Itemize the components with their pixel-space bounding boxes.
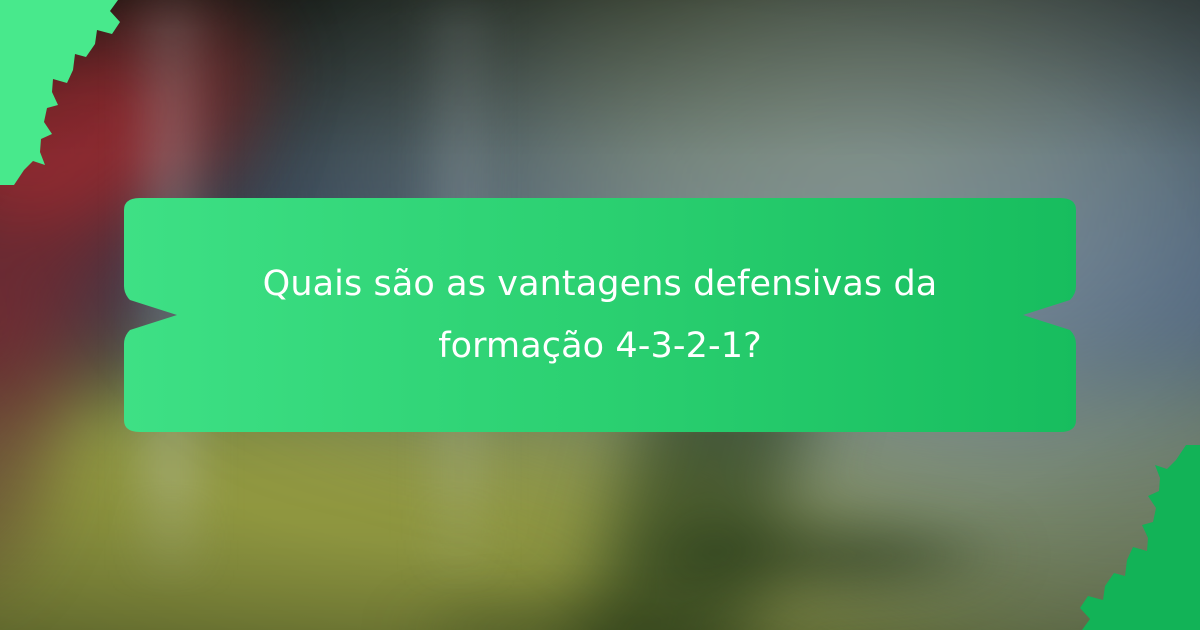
ribbon-heading: Quais são as vantagens defensivas da for… (110, 198, 1090, 432)
ribbon-banner: Quais são as vantagens defensivas da for… (110, 198, 1090, 432)
heading-line-2: formação 4-3-2-1? (438, 315, 762, 377)
heading-line-1: Quais são as vantagens defensivas da (263, 253, 938, 315)
share-card: Quais são as vantagens defensivas da for… (0, 0, 1200, 630)
